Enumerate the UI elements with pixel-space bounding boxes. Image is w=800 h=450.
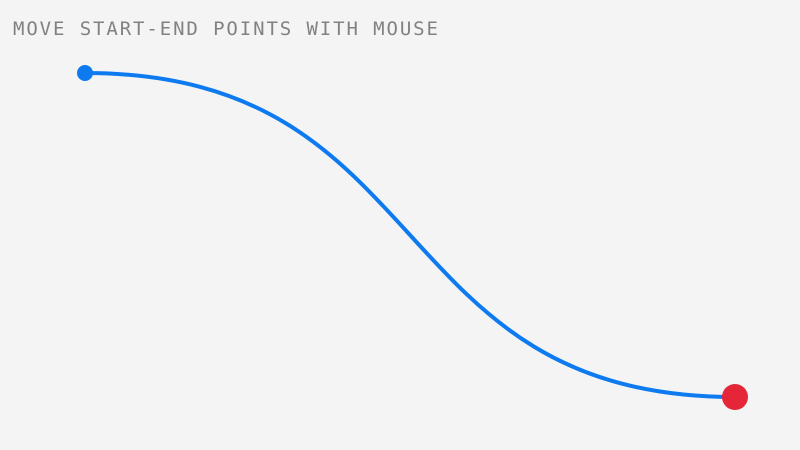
- page-title: MOVE START-END POINTS WITH MOUSE: [13, 17, 440, 41]
- end-point-handle[interactable]: [722, 384, 748, 410]
- bezier-canvas-stage[interactable]: MOVE START-END POINTS WITH MOUSE: [0, 0, 800, 450]
- start-point-handle[interactable]: [77, 65, 93, 81]
- bezier-curve-canvas[interactable]: [0, 0, 800, 450]
